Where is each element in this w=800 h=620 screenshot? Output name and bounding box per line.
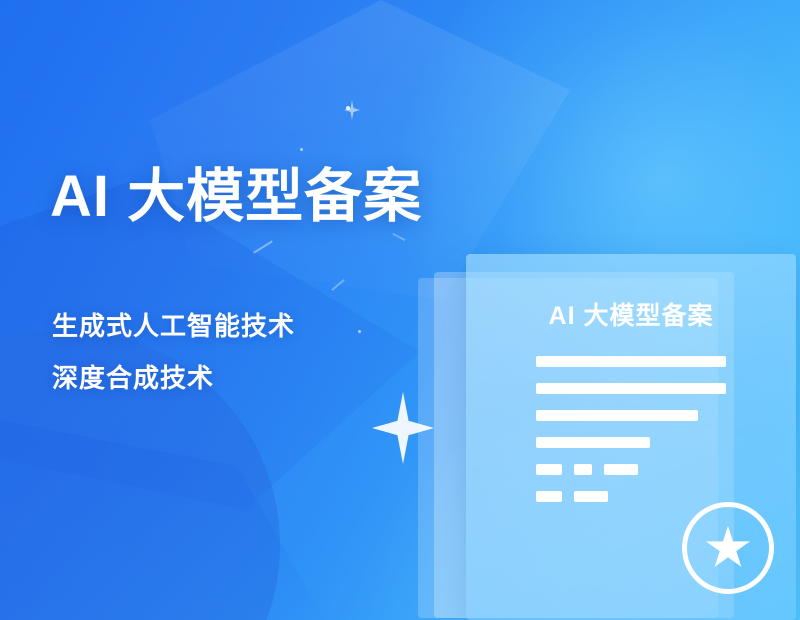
- sparkle-dot: [300, 148, 303, 151]
- document-line: [536, 383, 726, 394]
- document-stack-illustration: AI 大模型备案: [410, 268, 790, 620]
- page-title: AI 大模型备案: [50, 168, 422, 226]
- subtitle-line-2: 深度合成技术: [52, 352, 295, 404]
- document-line-short: [604, 464, 638, 475]
- document-line: [536, 410, 698, 421]
- sparkle-dot: [358, 330, 361, 333]
- ai-model-filing-banner: AI 大模型备案 生成式人工智能技术 深度合成技术 AI 大模型备案: [0, 0, 800, 620]
- subtitle-line-1: 生成式人工智能技术: [52, 300, 295, 352]
- document-line-short: [536, 464, 562, 475]
- document-title: AI 大模型备案: [466, 296, 796, 332]
- banner-subtitle: 生成式人工智能技术 深度合成技术: [52, 300, 295, 404]
- seal-star-shape: [705, 526, 751, 570]
- document-line-short: [574, 491, 608, 502]
- document-text-lines: [536, 356, 726, 518]
- document-line-short: [536, 491, 562, 502]
- document-dot-row: [536, 464, 726, 491]
- document-line: [536, 437, 650, 448]
- star-seal-icon: [682, 502, 774, 594]
- document-line-short: [574, 464, 592, 475]
- document-line: [536, 356, 726, 367]
- document-front-sheet: AI 大模型备案: [466, 254, 796, 620]
